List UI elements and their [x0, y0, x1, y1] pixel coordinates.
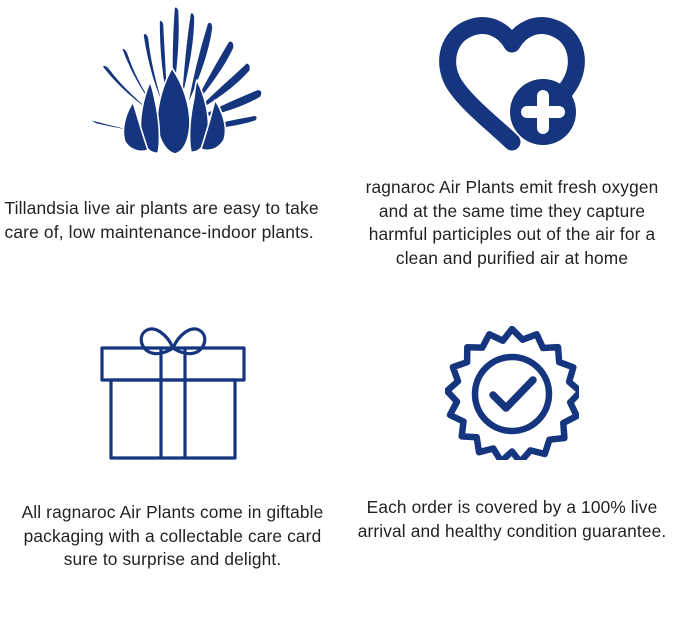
air-plant-icon [73, 6, 273, 158]
gift-box-icon [97, 320, 249, 463]
feature-cell-live-air-plants: Tillandsia live air plants are easy to t… [0, 0, 345, 308]
verified-badge-icon [445, 326, 579, 460]
feature-text-fresh-oxygen: ragnaroc Air Plants emit fresh oxygen an… [349, 176, 675, 270]
feature-text-live-arrival-guarantee: Each order is covered by a 100% live arr… [351, 496, 673, 543]
feature-cell-fresh-oxygen: ragnaroc Air Plants emit fresh oxygen an… [345, 0, 679, 308]
feature-cell-live-arrival-guarantee: Each order is covered by a 100% live arr… [345, 308, 679, 617]
feature-text-giftable-packaging: All ragnaroc Air Plants come in giftable… [13, 501, 333, 572]
feature-cell-giftable-packaging: All ragnaroc Air Plants come in giftable… [0, 308, 345, 617]
feature-grid: Tillandsia live air plants are easy to t… [0, 0, 679, 617]
feature-text-live-air-plants: Tillandsia live air plants are easy to t… [5, 196, 343, 244]
heart-plus-icon [438, 16, 586, 152]
